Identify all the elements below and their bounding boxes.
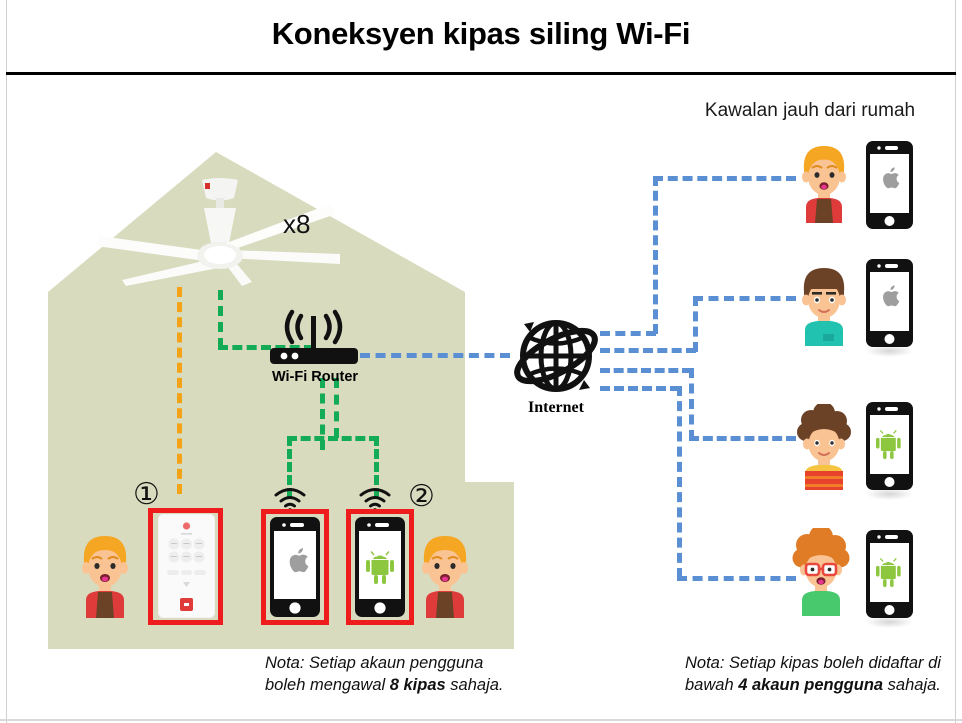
iphone-remote-user-1[interactable]: [866, 141, 913, 229]
blue-dash-to-user1: [653, 176, 796, 181]
android-phone-remote-user-3[interactable]: [866, 402, 913, 490]
note-left-suffix: sahaja.: [446, 676, 504, 694]
internet-label: Internet: [496, 399, 616, 417]
orange-dash-remote-to-fan: [177, 287, 182, 494]
frame-line-left: [6, 0, 7, 723]
remote-control-header: Kawalan jauh dari rumah: [660, 100, 960, 122]
iphone-in-house[interactable]: [270, 517, 320, 617]
globe-icon: [508, 310, 604, 402]
person-right-in-house: [412, 528, 478, 618]
phone-shadow-4: [866, 616, 913, 628]
phone-shadow-3: [866, 488, 913, 500]
person-left-in-house: [72, 528, 138, 618]
android-phone-remote-user-4[interactable]: [866, 530, 913, 618]
blue-dash-riser-user4: [677, 386, 682, 578]
note-right: Nota: Setiap kipas boleh didaftar di baw…: [685, 652, 962, 696]
note-left-emphasis: 8 kipas: [390, 676, 446, 694]
blue-dash-trunk-top: [600, 331, 656, 336]
wifi-router-icon: [266, 308, 362, 370]
remote-user-3: [793, 404, 855, 490]
fan-count-label: x8: [283, 209, 310, 240]
blue-dash-to-user3: [689, 436, 796, 441]
frame-line-bottom: [0, 719, 962, 721]
android-phone-in-house[interactable]: [355, 517, 405, 617]
iphone-remote-user-2[interactable]: [866, 259, 913, 347]
page-title: Koneksyen kipas siling Wi-Fi: [0, 16, 962, 52]
title-divider: [6, 72, 956, 75]
green-dash-router-down-right: [334, 378, 339, 438]
blue-dash-to-user2: [693, 296, 796, 301]
blue-dash-router-to-internet: [360, 353, 510, 358]
note-right-suffix: sahaja.: [883, 676, 941, 694]
blue-dash-trunk-user3: [600, 368, 692, 373]
blue-dash-trunk-user4: [600, 386, 680, 391]
remote-user-1: [793, 139, 855, 223]
blue-dash-riser-user1: [653, 176, 658, 334]
remote-user-4: [788, 528, 854, 616]
blue-dash-to-user4: [677, 576, 796, 581]
note-right-emphasis: 4 akaun pengguna: [738, 676, 883, 694]
remote-user-2: [793, 262, 855, 346]
blue-dash-riser-user3: [689, 368, 694, 440]
blue-dash-riser-user2: [693, 296, 698, 352]
phone-shadow-2: [866, 345, 913, 357]
marker-2: ②: [408, 482, 435, 512]
blue-dash-trunk-user2: [600, 348, 696, 353]
diagram-canvas: Koneksyen kipas siling Wi-Fi: [0, 0, 962, 723]
green-dash-fan-vertical: [218, 290, 223, 348]
wifi-router-label: Wi-Fi Router: [250, 369, 380, 385]
green-dash-branch-bar: [287, 436, 379, 441]
remote-control-icon[interactable]: [158, 514, 215, 618]
marker-1: ①: [133, 480, 160, 510]
note-left: Nota: Setiap akaun pengguna boleh mengaw…: [265, 652, 515, 696]
